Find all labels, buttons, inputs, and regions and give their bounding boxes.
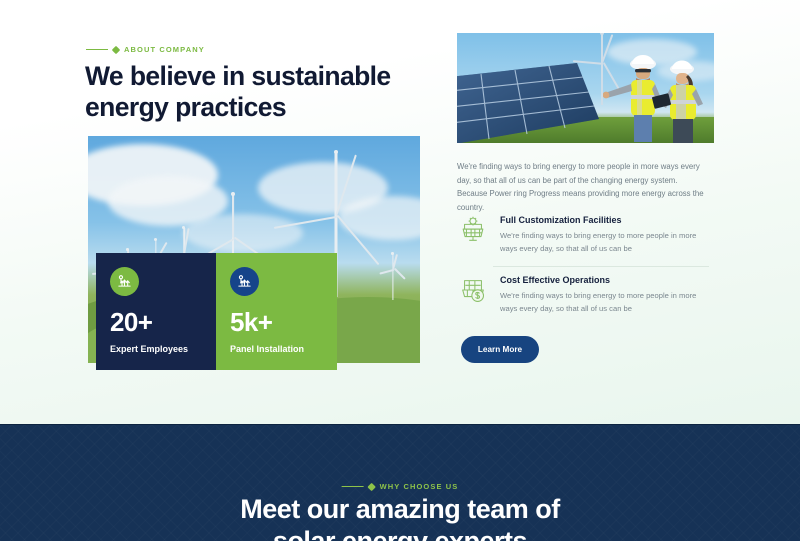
- why-choose-eyebrow-label: WHY CHOOSE US: [380, 482, 459, 491]
- eyebrow-line-icon: [342, 486, 364, 487]
- why-choose-heading: Meet our amazing team of solar energy ex…: [0, 494, 800, 541]
- wind-turbine-icon: [110, 267, 139, 296]
- feature-title: Full Customization Facilities: [500, 215, 700, 225]
- leaf-diamond-icon: [367, 482, 375, 490]
- feature-title: Cost Effective Operations: [500, 275, 700, 285]
- about-company-section: ABOUT COMPANY We believe in sustainable …: [0, 0, 800, 424]
- eyebrow-line-icon: [86, 49, 108, 50]
- solar-panel-gear-icon: [457, 214, 489, 246]
- page-title: We believe in sustainable energy practic…: [85, 61, 425, 123]
- solar-panel-dollar-icon: [457, 274, 489, 306]
- why-heading-line-2: solar energy experts: [273, 526, 527, 541]
- wind-turbine-icon: [230, 267, 259, 296]
- stat-card-panel-installation: 5k+ Panel Installation: [216, 253, 337, 370]
- stat-label: Expert Employees: [110, 344, 188, 354]
- stat-label: Panel Installation: [230, 344, 304, 354]
- feature-description: We're finding ways to bring energy to mo…: [500, 230, 700, 256]
- feature-description: We're finding ways to bring energy to mo…: [500, 290, 700, 316]
- engineers-photo: [457, 33, 714, 143]
- feature-cost-effective: Cost Effective Operations We're finding …: [457, 274, 709, 316]
- leaf-diamond-icon: [112, 45, 120, 53]
- feature-divider: [493, 266, 709, 267]
- feature-full-customization: Full Customization Facilities We're find…: [457, 214, 709, 256]
- about-eyebrow-label: ABOUT COMPANY: [124, 45, 205, 54]
- stat-card-expert-employees: 20+ Expert Employees: [96, 253, 217, 370]
- about-eyebrow: ABOUT COMPANY: [86, 45, 205, 54]
- learn-more-button[interactable]: Learn More: [461, 336, 539, 363]
- about-paragraph: We're finding ways to bring energy to mo…: [457, 160, 709, 215]
- turbine-small-5: [384, 254, 402, 300]
- why-heading-line-1: Meet our amazing team of: [240, 494, 560, 524]
- stat-value: 5k+: [230, 307, 272, 338]
- stat-value: 20+: [110, 307, 152, 338]
- why-choose-eyebrow: WHY CHOOSE US: [342, 482, 459, 491]
- landing-page: ABOUT COMPANY We believe in sustainable …: [0, 0, 800, 541]
